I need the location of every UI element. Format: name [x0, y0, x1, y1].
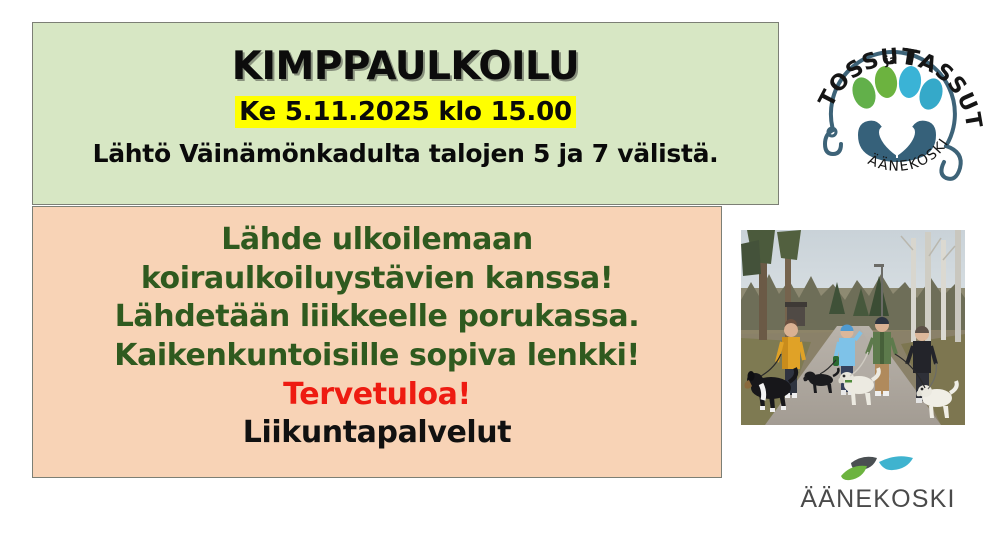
- aanekoski-city-logo: ÄÄNEKOSKI: [793, 450, 963, 512]
- tossut-ja-tassut-logo: TOSSUT ja TASSUT ÄÄNEKOSKI: [806, 18, 988, 190]
- welcome-line: Tervetuloa!: [283, 376, 471, 415]
- dog-walking-photo: [741, 230, 965, 425]
- description-line-1: Lähde ulkoilemaan: [221, 221, 533, 260]
- organizer-line: Liikuntapalvelut: [243, 414, 511, 453]
- event-date-row: Ke 5.11.2025 klo 15.00: [235, 98, 576, 128]
- event-date-highlighted: Ke 5.11.2025 klo 15.00: [235, 96, 576, 128]
- aanekoski-wordmark-text: ÄÄNEKOSKI: [793, 485, 963, 514]
- aanekoski-swoosh-icon: [793, 450, 963, 484]
- page-title: KIMPPAULKOILU: [232, 47, 579, 88]
- description-line-4: Kaikenkuntoisille sopiva lenkki!: [114, 337, 640, 376]
- event-header-panel: KIMPPAULKOILU Ke 5.11.2025 klo 15.00 Läh…: [32, 22, 779, 205]
- description-line-3: Lähdetään liikkeelle porukassa.: [115, 298, 640, 337]
- event-start-location: Lähtö Väinämönkadulta talojen 5 ja 7 väl…: [93, 139, 719, 168]
- description-line-2: koiraulkoiluystävien kanssa!: [141, 260, 613, 299]
- poster-canvas: KIMPPAULKOILU Ke 5.11.2025 klo 15.00 Läh…: [0, 0, 1000, 550]
- event-description-panel: Lähde ulkoilemaan koiraulkoiluystävien k…: [32, 206, 722, 478]
